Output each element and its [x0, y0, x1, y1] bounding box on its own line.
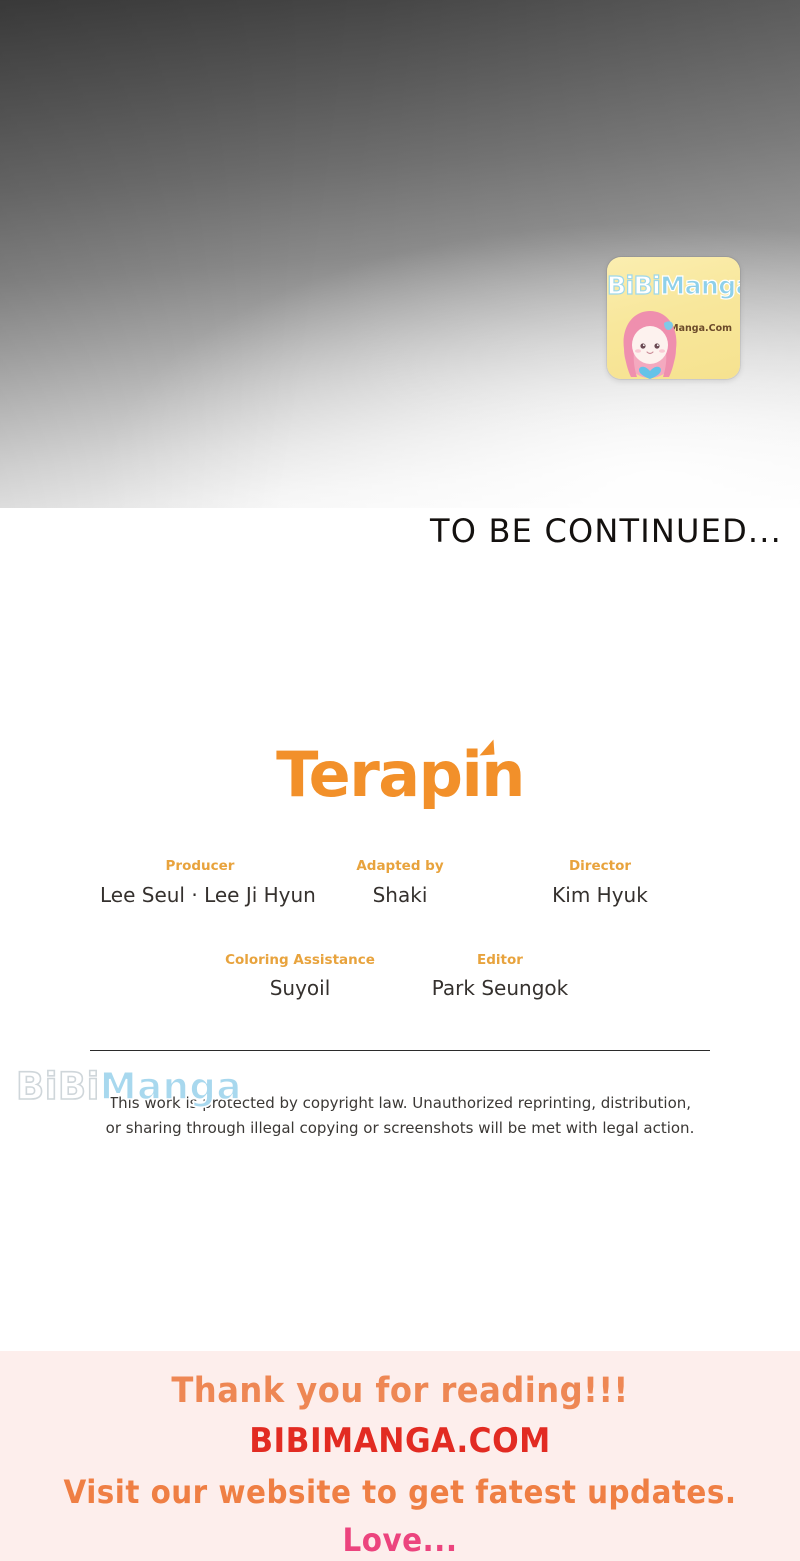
- credit-entry: Producer Lee Seul · Lee Ji Hyun: [100, 860, 300, 906]
- series-logo-wrap: Terapin: [0, 744, 800, 806]
- promo-love-text: Love...: [32, 1508, 768, 1556]
- credit-entry: Director Kim Hyuk: [500, 860, 700, 906]
- promo-domain-link[interactable]: BIBIMANGA.COM: [32, 1409, 768, 1458]
- credit-name: Suyoil: [200, 977, 400, 999]
- credit-role: Editor: [400, 954, 600, 968]
- credit-role: Adapted by: [300, 860, 500, 874]
- badge-title-manga: Manga: [660, 271, 740, 300]
- promo-visit-text: Visit our website to get fatest updates.: [32, 1458, 768, 1508]
- artwork-panel: BiBiManga BibiManga.Com: [0, 0, 800, 508]
- promo-banner: Thank you for reading!!! BIBIMANGA.COM V…: [0, 1351, 800, 1561]
- credit-role: Coloring Assistance: [200, 954, 400, 968]
- credit-entry: Adapted by Shaki: [300, 860, 500, 906]
- artwork-sheen: [0, 0, 800, 508]
- badge-title-bibi: BiBi: [607, 271, 660, 300]
- copyright-line-1: This work is protected by copyright law.…: [0, 1091, 800, 1116]
- credit-role: Producer: [100, 860, 300, 874]
- copyright-notice: This work is protected by copyright law.…: [0, 1091, 800, 1141]
- credits-row-1: Producer Lee Seul · Lee Ji Hyun Adapted …: [0, 860, 800, 906]
- credits-block: Producer Lee Seul · Lee Ji Hyun Adapted …: [0, 860, 800, 999]
- credit-entry: Editor Park Seungok: [400, 954, 600, 1000]
- credit-role: Director: [500, 860, 700, 874]
- credit-name: Park Seungok: [400, 977, 600, 999]
- series-logo-accent-icon: [478, 739, 494, 755]
- promo-thanks-text: Thank you for reading!!!: [32, 1351, 768, 1409]
- series-logo: Terapin: [276, 744, 524, 806]
- credit-name: Kim Hyuk: [500, 884, 700, 906]
- comic-end-page: BiBiManga BibiManga.Com TO BE CONTINUED.…: [0, 0, 800, 1561]
- section-divider: [90, 1050, 710, 1051]
- credits-row-2: Coloring Assistance Suyoil Editor Park S…: [0, 954, 800, 1000]
- credit-name: Lee Seul · Lee Ji Hyun: [100, 884, 300, 906]
- copyright-line-2: or sharing through illegal copying or sc…: [0, 1116, 800, 1141]
- chibi-girl-icon: [617, 305, 683, 379]
- to-be-continued-text: TO BE CONTINUED...: [430, 512, 782, 550]
- credit-name: Shaki: [300, 884, 500, 906]
- bibimanga-badge-logo: BiBiManga BibiManga.Com: [607, 257, 740, 379]
- badge-title: BiBiManga: [607, 273, 740, 298]
- credit-entry: Coloring Assistance Suyoil: [200, 954, 400, 1000]
